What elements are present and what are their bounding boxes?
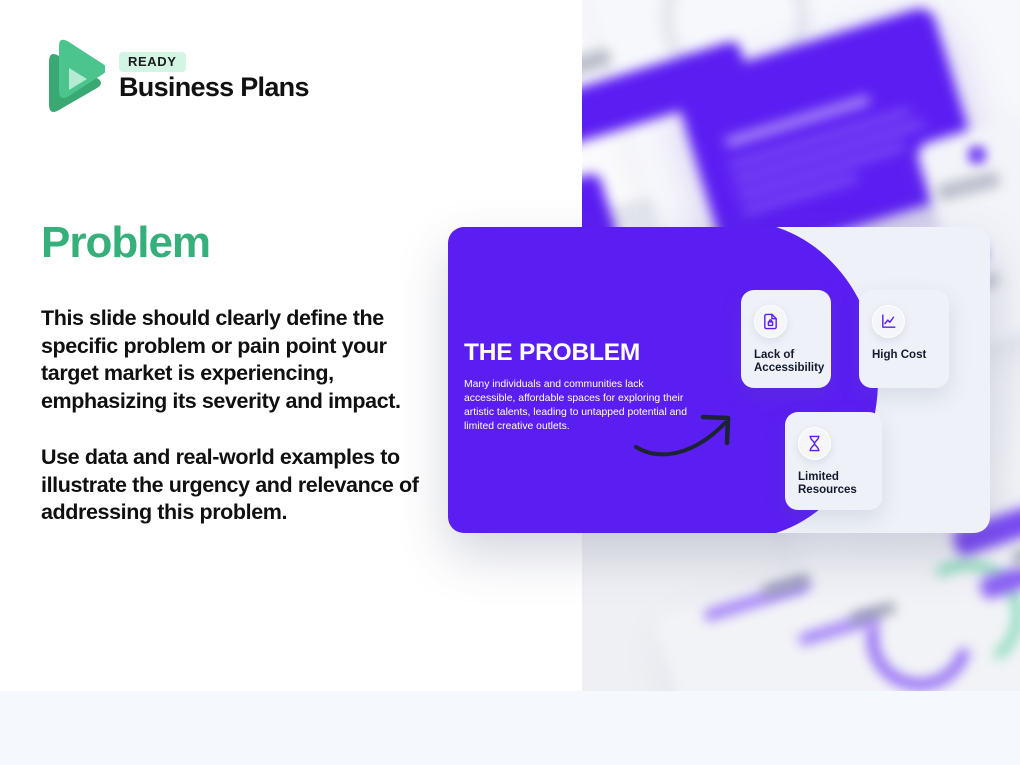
brand-name: Business Plans [119,73,309,103]
body-paragraph-1: This slide should clearly define the spe… [41,305,431,416]
document-lock-icon [754,305,787,338]
feature-card-high-cost[interactable]: High Cost [859,290,949,388]
feature-card-limited-resources[interactable]: Limited Resources [785,412,882,510]
body-copy: This slide should clearly define the spe… [41,305,431,527]
slide-heading: THE PROBLEM [464,339,694,367]
feature-card-lack-of-accessibility[interactable]: Lack of Accessibility [741,290,831,388]
line-chart-icon [872,305,905,338]
feature-label: Limited Resources [798,471,869,498]
bottom-strip [0,691,1020,765]
feature-label: High Cost [872,349,936,362]
play-triangle-logo-icon [41,38,105,116]
bg-dot-purple-a [968,146,986,164]
slide-preview-card[interactable]: THE PROBLEM Many individuals and communi… [448,227,990,533]
slide-page: READY Business Plans Problem This slide … [0,0,1020,765]
hourglass-icon [798,427,831,460]
page-title: Problem [41,218,210,268]
purple-panel-text: THE PROBLEM Many individuals and communi… [464,339,694,435]
brand-lockup: READY Business Plans [41,38,309,116]
body-paragraph-2: Use data and real-world examples to illu… [41,444,431,527]
brand-text: READY Business Plans [119,52,309,103]
ready-badge: READY [119,52,186,72]
slide-body-text: Many individuals and communities lack ac… [464,378,694,435]
feature-label: Lack of Accessibility [754,349,818,376]
